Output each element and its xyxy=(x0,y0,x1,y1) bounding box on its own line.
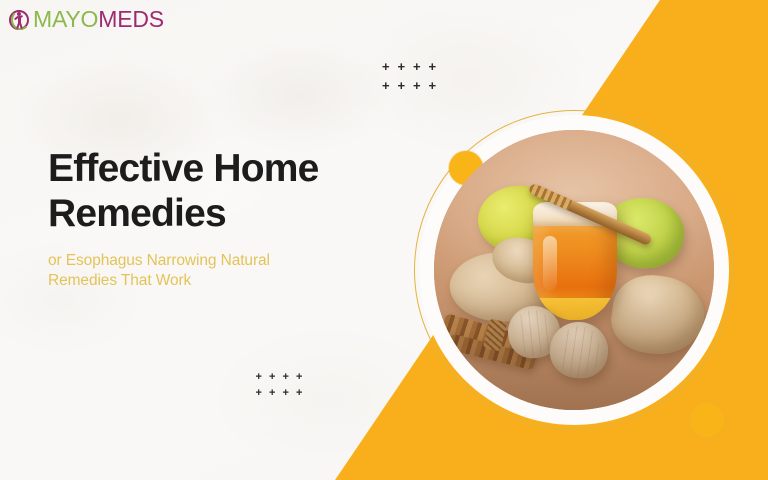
promo-banner: MAYOMEDS + + + + + + + + + + + + + + + +… xyxy=(0,0,768,480)
brand-logo[interactable]: MAYOMEDS xyxy=(8,6,164,33)
brand-name-part-b: MEDS xyxy=(98,6,164,32)
plus-icon: + xyxy=(279,388,293,399)
plus-icon: + xyxy=(279,372,293,383)
hero-photo-scene xyxy=(434,130,714,410)
plus-icon: + xyxy=(425,60,441,73)
plus-icon: + xyxy=(266,372,280,383)
headline-block: Effective Home Remedies or Esophagus Nar… xyxy=(48,147,398,290)
page-subtitle: or Esophagus Narrowing Natural Remedies … xyxy=(48,251,316,291)
plus-icon: + xyxy=(252,372,266,383)
plus-icon: + xyxy=(293,372,307,383)
plus-icon: + xyxy=(425,79,441,92)
plus-icon: + xyxy=(394,60,410,73)
page-title: Effective Home Remedies xyxy=(48,147,338,237)
logo-person-glyph xyxy=(15,12,23,28)
brand-name-part-a: MAYO xyxy=(33,6,98,32)
plus-grid-bottom: + + + + + + + + xyxy=(252,372,306,399)
plus-icon: + xyxy=(252,388,266,399)
plus-icon: + xyxy=(378,60,394,73)
plus-icon: + xyxy=(293,388,307,399)
plus-icon: + xyxy=(266,388,280,399)
photo-vignette xyxy=(434,287,714,410)
plus-grid-top: + + + + + + + + xyxy=(378,60,440,92)
hero-photo xyxy=(434,130,714,410)
plus-icon: + xyxy=(409,60,425,73)
plus-icon: + xyxy=(409,79,425,92)
brand-name: MAYOMEDS xyxy=(33,6,164,33)
plus-icon: + xyxy=(378,79,394,92)
plus-icon: + xyxy=(394,79,410,92)
mayomeds-figure-icon xyxy=(8,9,30,31)
